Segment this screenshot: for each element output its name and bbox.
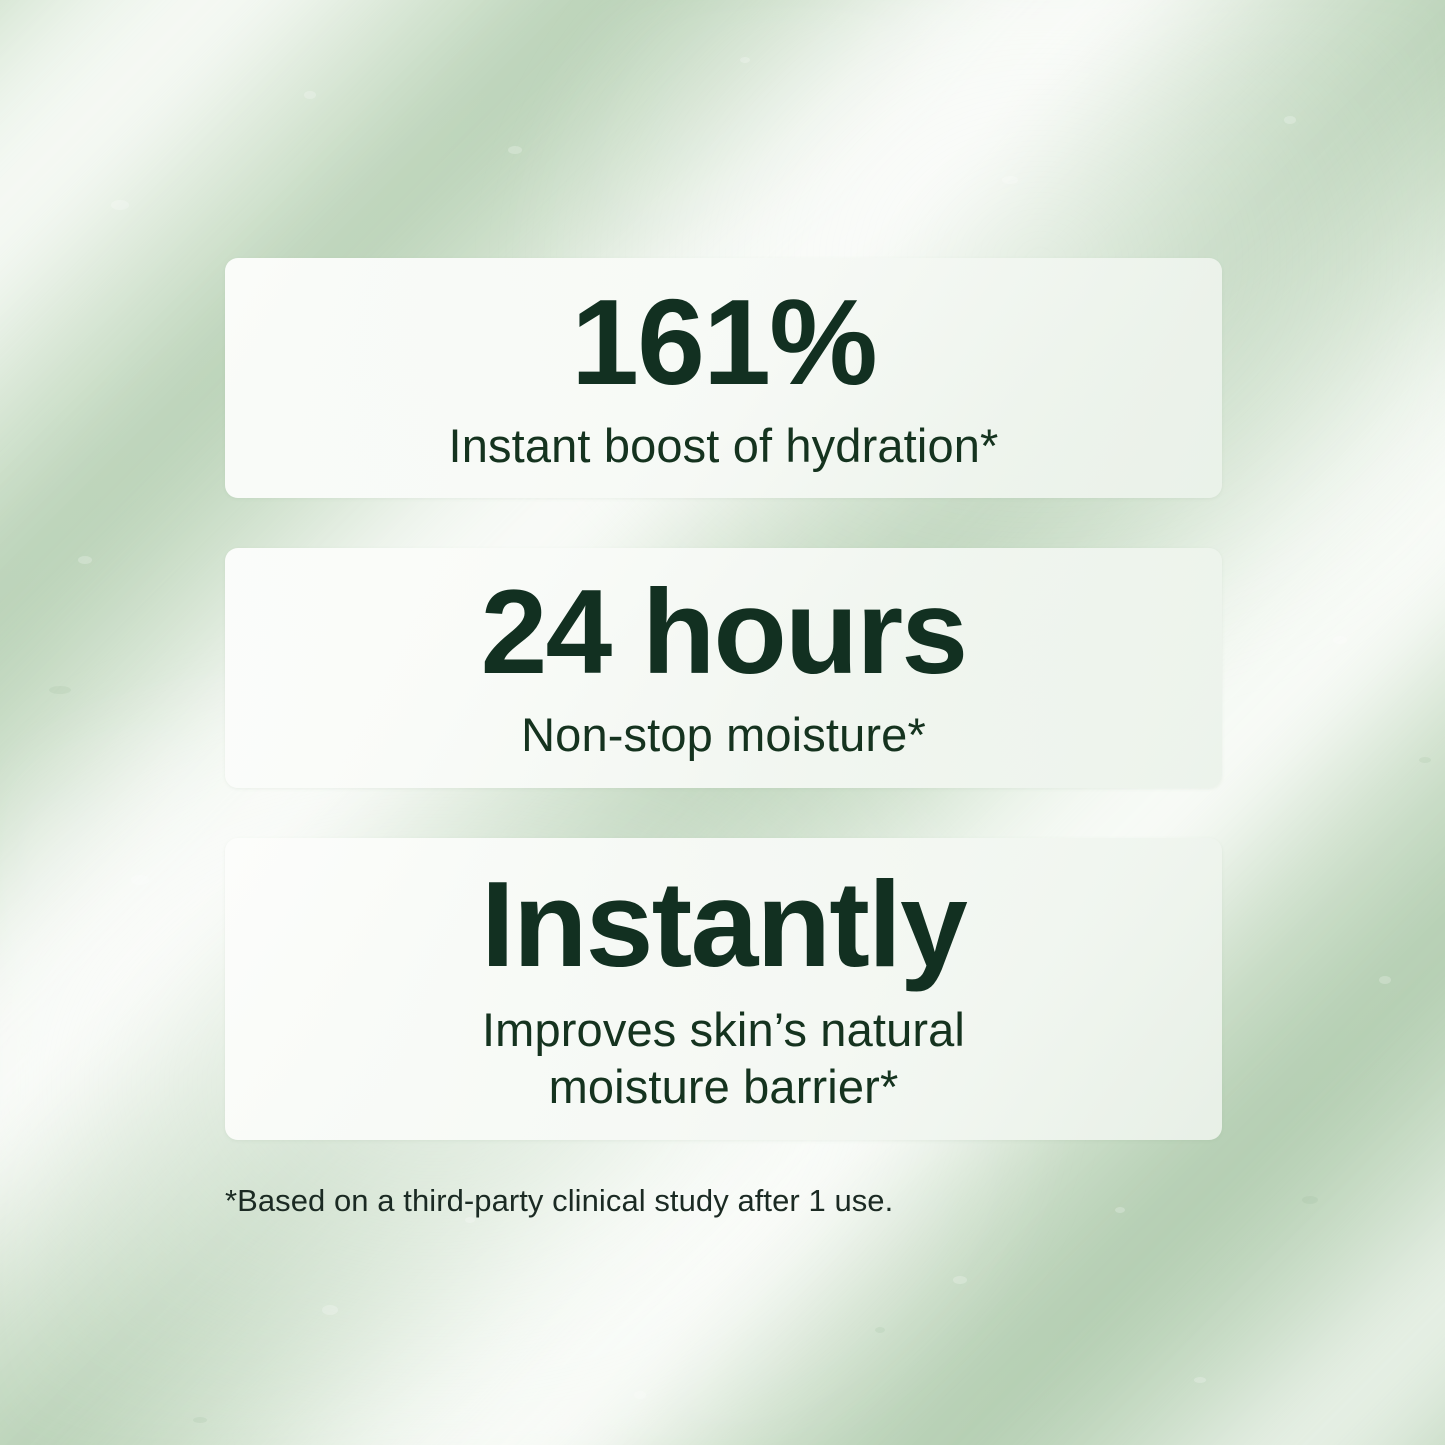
claim-card-hydration: 161% Instant boost of hydration* xyxy=(225,258,1222,498)
claim-subline-barrier-line2: moisture barrier* xyxy=(482,1058,965,1115)
claim-headline-moisture-duration: 24 hours xyxy=(481,572,967,692)
claim-subline-barrier: Improves skin’s natural moisture barrier… xyxy=(482,1001,965,1116)
claim-subline-hydration: Instant boost of hydration* xyxy=(449,417,999,474)
claim-card-moisture-duration: 24 hours Non-stop moisture* xyxy=(225,548,1222,788)
claim-card-barrier: Instantly Improves skin’s natural moistu… xyxy=(225,838,1222,1140)
claim-headline-barrier: Instantly xyxy=(481,863,966,985)
infographic-canvas: 161% Instant boost of hydration* 24 hour… xyxy=(0,0,1445,1445)
claim-subline-barrier-line1: Improves skin’s natural xyxy=(482,1001,965,1058)
claims-card-list: 161% Instant boost of hydration* 24 hour… xyxy=(225,258,1222,1140)
disclaimer-footnote: *Based on a third-party clinical study a… xyxy=(225,1183,893,1219)
claim-headline-hydration: 161% xyxy=(571,281,876,403)
claim-subline-moisture-duration: Non-stop moisture* xyxy=(521,706,926,763)
